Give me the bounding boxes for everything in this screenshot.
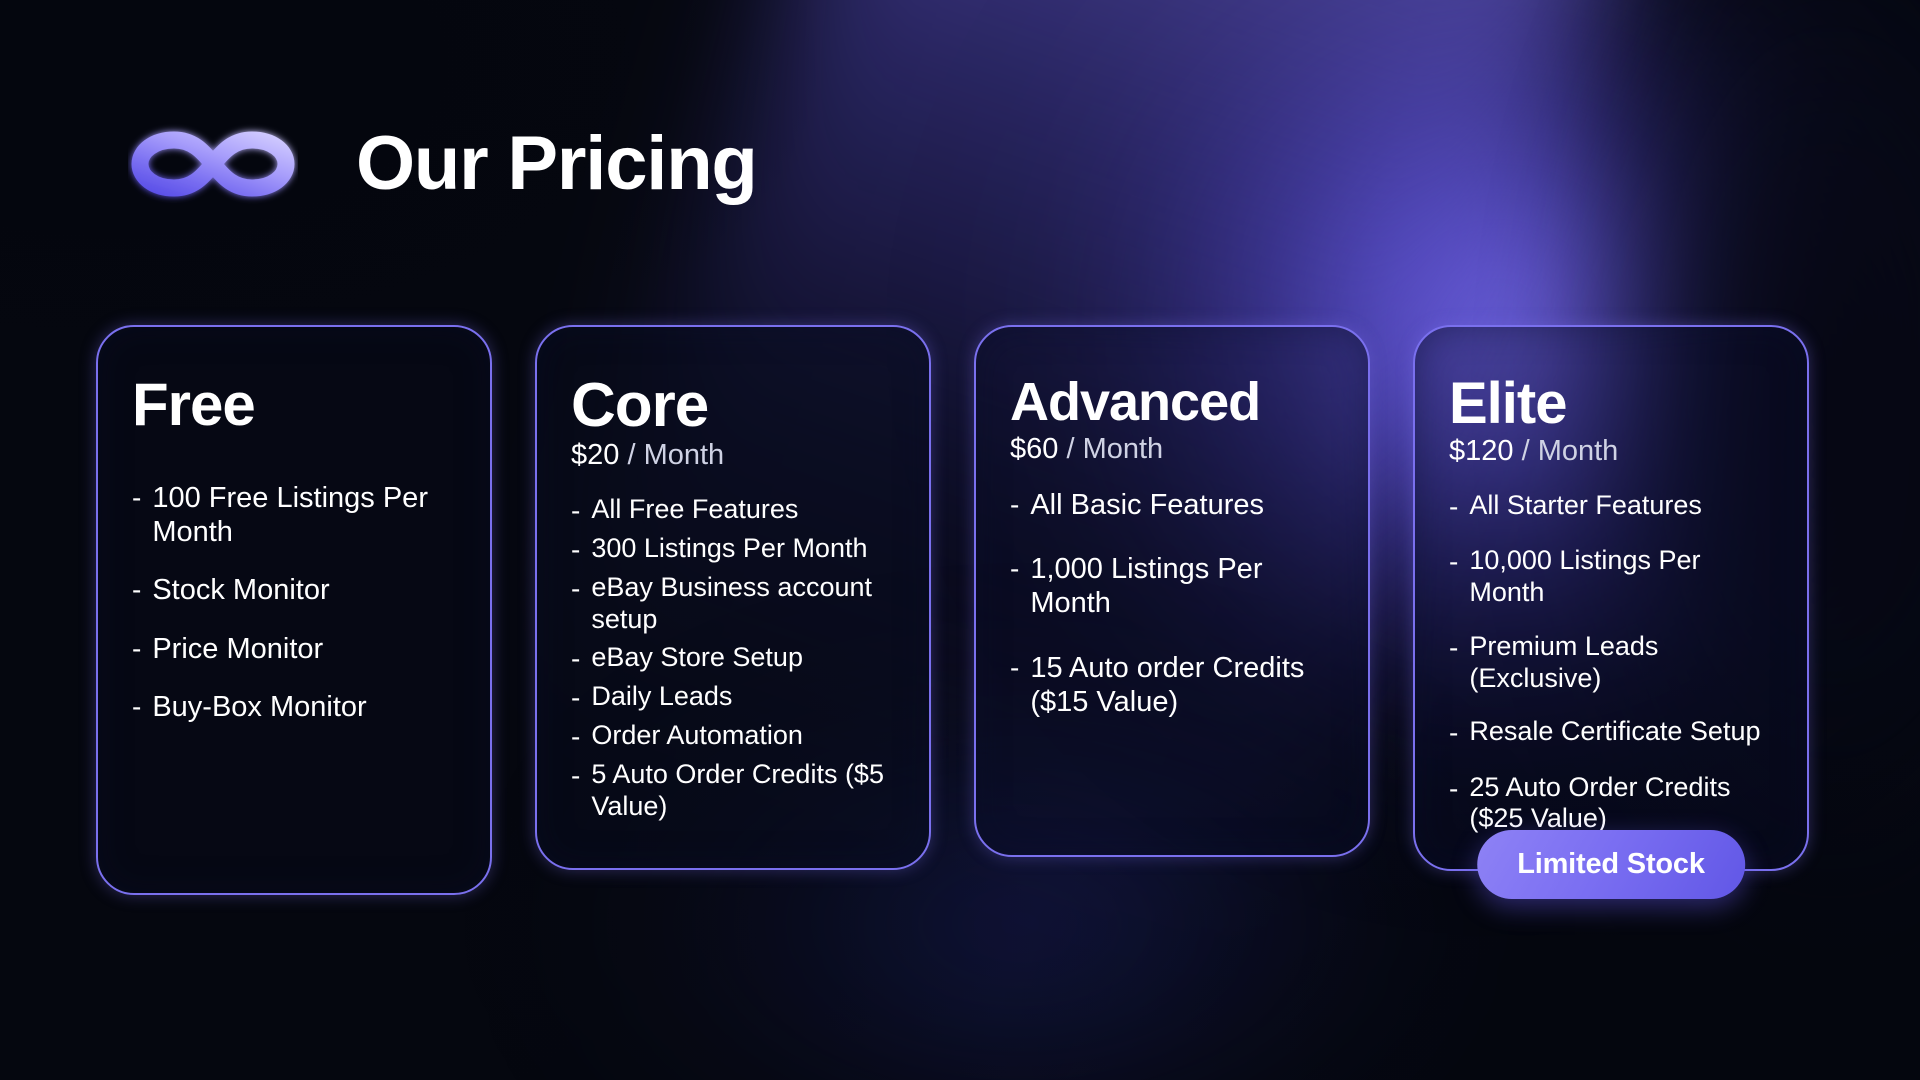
feature-text: 15 Auto order Credits ($15 Value) xyxy=(1030,651,1334,719)
feature-item: - Resale Certificate Setup xyxy=(1449,716,1773,749)
feature-list: - All Starter Features - 10,000 Listings… xyxy=(1449,490,1773,835)
feature-text: All Free Features xyxy=(591,494,895,526)
feature-item: - eBay Store Setup xyxy=(571,642,895,675)
feature-item: - Daily Leads xyxy=(571,681,895,714)
plan-name: Advanced xyxy=(1010,375,1334,429)
plan-name: Elite xyxy=(1449,375,1773,433)
feature-item: - All Basic Features xyxy=(1010,488,1334,522)
bullet-dash-icon: - xyxy=(571,759,580,792)
feature-item: - Premium Leads (Exclusive) xyxy=(1449,631,1773,695)
feature-text: All Basic Features xyxy=(1030,488,1334,522)
bullet-dash-icon: - xyxy=(132,690,141,723)
feature-text: All Starter Features xyxy=(1469,490,1773,522)
feature-text: Order Automation xyxy=(591,720,895,752)
feature-item: - 25 Auto Order Credits ($25 Value) xyxy=(1449,772,1773,836)
bullet-dash-icon: - xyxy=(1449,490,1458,523)
feature-text: Resale Certificate Setup xyxy=(1469,716,1773,748)
pricing-card-free[interactable]: Free - 100 Free Listings Per Month - Sto… xyxy=(96,325,492,895)
pricing-card-advanced[interactable]: Advanced $60 / Month - All Basic Feature… xyxy=(974,325,1370,857)
feature-text: Price Monitor xyxy=(152,632,456,666)
bullet-dash-icon: - xyxy=(571,572,580,605)
bullet-dash-icon: - xyxy=(132,481,141,514)
bullet-dash-icon: - xyxy=(571,642,580,675)
feature-item: - 5 Auto Order Credits ($5 Value) xyxy=(571,759,895,823)
feature-text: Daily Leads xyxy=(591,681,895,713)
plan-period: / Month xyxy=(1522,435,1619,467)
feature-text: Premium Leads (Exclusive) xyxy=(1469,631,1773,695)
feature-text: eBay Store Setup xyxy=(591,642,895,674)
bullet-dash-icon: - xyxy=(1010,651,1019,684)
feature-item: - All Free Features xyxy=(571,494,895,527)
plan-name: Core xyxy=(571,375,895,437)
plan-price: $60 xyxy=(1010,433,1058,465)
plan-price: $20 xyxy=(571,439,619,471)
feature-item: - Order Automation xyxy=(571,720,895,753)
bullet-dash-icon: - xyxy=(571,494,580,527)
feature-list: - All Basic Features - 1,000 Listings Pe… xyxy=(1010,488,1334,719)
feature-item: - Price Monitor xyxy=(132,632,456,666)
pricing-card-core[interactable]: Core $20 / Month - All Free Features - 3… xyxy=(535,325,931,870)
feature-text: 300 Listings Per Month xyxy=(591,533,895,565)
feature-item: - 100 Free Listings Per Month xyxy=(132,481,456,549)
pricing-cards-row: Free - 100 Free Listings Per Month - Sto… xyxy=(96,325,1831,895)
plan-price-row: $20 / Month xyxy=(571,439,895,472)
plan-price-row: $120 / Month xyxy=(1449,435,1773,468)
bullet-dash-icon: - xyxy=(1449,716,1458,749)
plan-name: Free xyxy=(132,375,456,435)
bullet-dash-icon: - xyxy=(1010,552,1019,585)
feature-item: - eBay Business account setup xyxy=(571,572,895,636)
feature-list: - 100 Free Listings Per Month - Stock Mo… xyxy=(132,481,456,724)
feature-text: 1,000 Listings Per Month xyxy=(1030,552,1334,620)
feature-item: - 15 Auto order Credits ($15 Value) xyxy=(1010,651,1334,719)
plan-price-row: $60 / Month xyxy=(1010,433,1334,466)
page-title: Our Pricing xyxy=(356,126,757,202)
page-header: Our Pricing xyxy=(128,118,757,210)
pricing-card-elite[interactable]: Elite $120 / Month - All Starter Feature… xyxy=(1413,325,1809,871)
feature-text: 10,000 Listings Per Month xyxy=(1469,545,1773,609)
feature-text: 100 Free Listings Per Month xyxy=(152,481,456,549)
bullet-dash-icon: - xyxy=(132,573,141,606)
bullet-dash-icon: - xyxy=(571,681,580,714)
bullet-dash-icon: - xyxy=(571,720,580,753)
feature-list: - All Free Features - 300 Listings Per M… xyxy=(571,494,895,823)
feature-text: 5 Auto Order Credits ($5 Value) xyxy=(591,759,895,823)
feature-item: - 10,000 Listings Per Month xyxy=(1449,545,1773,609)
bullet-dash-icon: - xyxy=(1449,631,1458,664)
limited-stock-badge[interactable]: Limited Stock xyxy=(1477,830,1745,899)
feature-item: - All Starter Features xyxy=(1449,490,1773,523)
feature-text: Buy-Box Monitor xyxy=(152,690,456,724)
infinity-logo-icon xyxy=(128,118,298,210)
bullet-dash-icon: - xyxy=(1010,488,1019,521)
pricing-page: Our Pricing Free - 100 Free Listings Per… xyxy=(0,0,1920,1080)
feature-item: - 1,000 Listings Per Month xyxy=(1010,552,1334,620)
bullet-dash-icon: - xyxy=(1449,545,1458,578)
bullet-dash-icon: - xyxy=(571,533,580,566)
plan-period: / Month xyxy=(627,439,724,471)
feature-text: eBay Business account setup xyxy=(591,572,895,636)
feature-text: Stock Monitor xyxy=(152,573,456,607)
feature-item: - Buy-Box Monitor xyxy=(132,690,456,724)
feature-text: 25 Auto Order Credits ($25 Value) xyxy=(1469,772,1773,836)
feature-item: - 300 Listings Per Month xyxy=(571,533,895,566)
bullet-dash-icon: - xyxy=(132,632,141,665)
plan-period: / Month xyxy=(1066,433,1163,465)
feature-item: - Stock Monitor xyxy=(132,573,456,607)
plan-price: $120 xyxy=(1449,435,1514,467)
bullet-dash-icon: - xyxy=(1449,772,1458,805)
